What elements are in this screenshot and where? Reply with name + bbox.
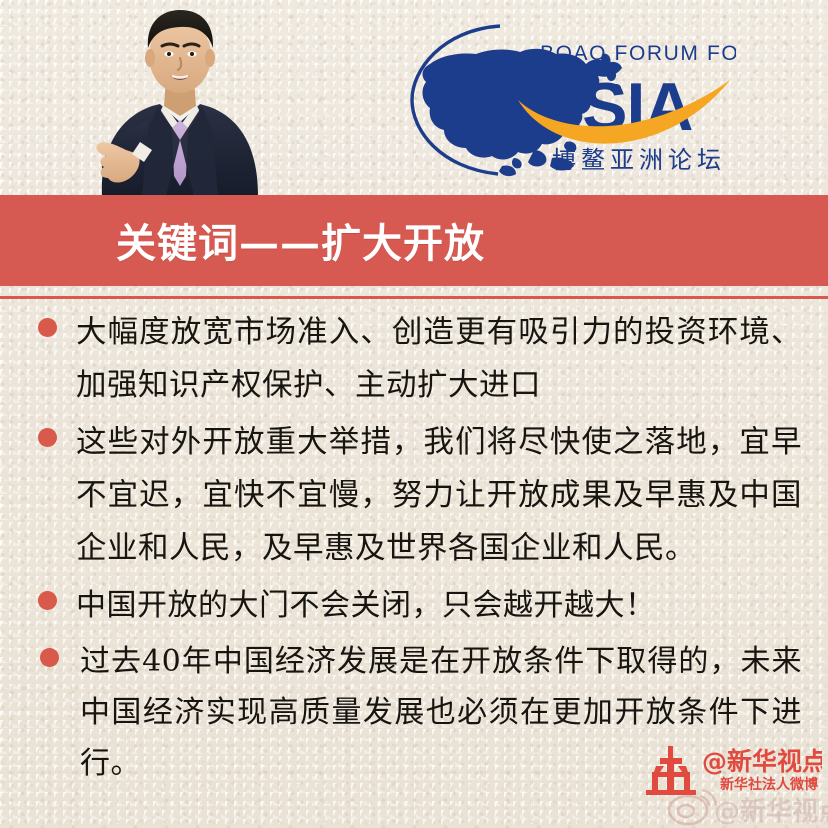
list-item: 中国开放的大门不会关闭，只会越开越大！ bbox=[0, 579, 828, 632]
leader-portrait bbox=[96, 0, 264, 196]
weibo-handle: @新华视点 bbox=[714, 796, 828, 827]
bullet-dot-icon bbox=[38, 591, 57, 610]
banner-divider-line bbox=[0, 296, 828, 299]
logo-chinese-name: 博鳌亚洲论坛 bbox=[552, 146, 726, 174]
poster-header: BOAO FORUM FOR ASIA 博鳌亚洲论坛 bbox=[0, 0, 828, 196]
bullet-dot-icon bbox=[40, 648, 59, 667]
list-item: 大幅度放宽市场准入、创造更有吸引力的投资环境、加强知识产权保护、主动扩大进口 bbox=[0, 306, 828, 412]
weibo-watermark: @新华视点 bbox=[666, 788, 828, 828]
boao-forum-logo: BOAO FORUM FOR ASIA 博鳌亚洲论坛 bbox=[406, 18, 736, 182]
bullet-dot-icon bbox=[38, 428, 57, 447]
list-item: 这些对外开放重大举措，我们将尽快使之落地，宜早不宜迟，宜快不宜慢，努力让开放成果… bbox=[0, 416, 828, 575]
logo-english-top: BOAO FORUM FOR bbox=[540, 42, 736, 65]
bullet-text: 中国开放的大门不会关闭，只会越开越大！ bbox=[76, 579, 802, 632]
weibo-eye-icon bbox=[669, 790, 716, 824]
banner-title: 关键词——扩大开放 bbox=[116, 211, 485, 269]
bullet-text: 这些对外开放重大举措，我们将尽快使之落地，宜早不宜迟，宜快不宜慢，努力让开放成果… bbox=[76, 416, 802, 575]
bullet-list: 大幅度放宽市场准入、创造更有吸引力的投资环境、加强知识产权保护、主动扩大进口 这… bbox=[0, 306, 828, 793]
keyword-banner: 关键词——扩大开放 bbox=[0, 195, 828, 286]
xinhua-handle: @新华视点 bbox=[702, 747, 822, 776]
bullet-text: 大幅度放宽市场准入、创造更有吸引力的投资环境、加强知识产权保护、主动扩大进口 bbox=[76, 306, 802, 412]
poster-root: BOAO FORUM FOR ASIA 博鳌亚洲论坛 关键词——扩大开放 大幅度… bbox=[0, 0, 828, 828]
bullet-dot-icon bbox=[38, 318, 57, 337]
